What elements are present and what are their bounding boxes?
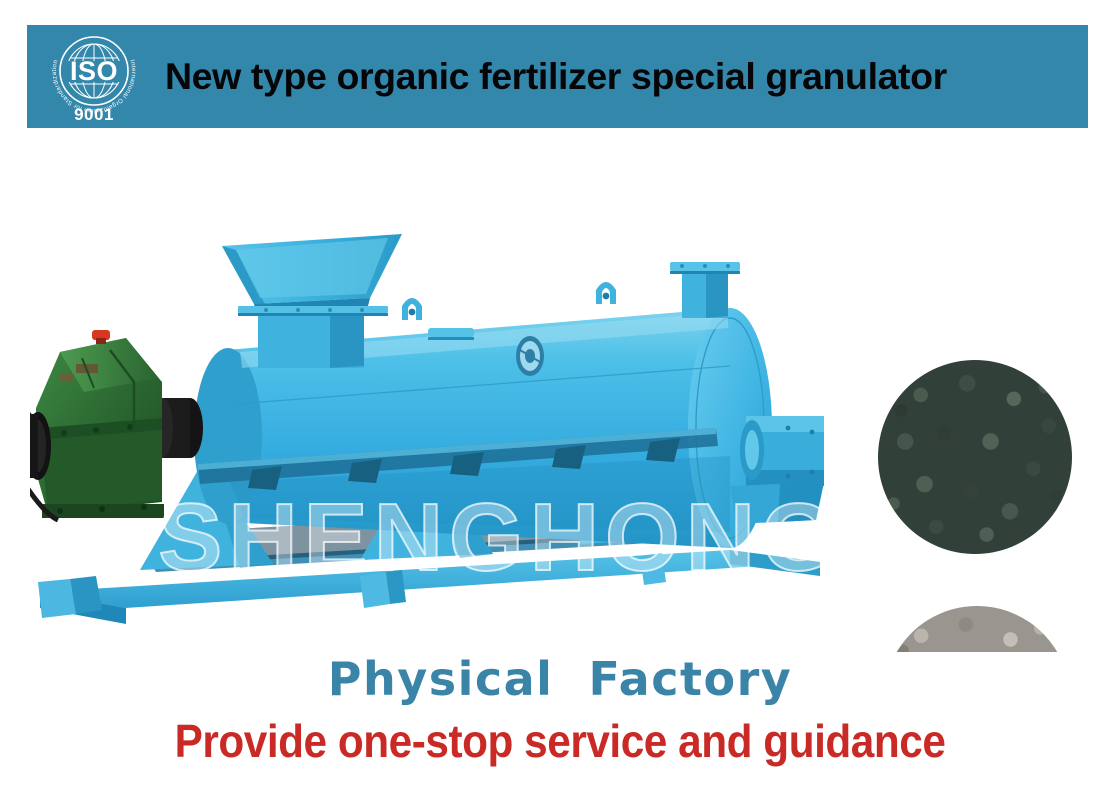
bearing-housing (730, 416, 824, 524)
tagline-secondary: Provide one-stop service and guidance (45, 718, 1075, 764)
lifting-eye (402, 282, 616, 320)
iso-globe-icon: International Organization for Standardi… (41, 25, 147, 128)
tagline-primary: Physical Factory (0, 656, 1120, 702)
granulator-machine-illustration (30, 232, 910, 652)
product-banner: International Organization for Standardi… (0, 0, 1120, 799)
header-bar: International Organization for Standardi… (27, 25, 1088, 128)
svg-text:ISO: ISO (70, 56, 118, 86)
svg-text:9001: 9001 (74, 105, 114, 124)
access-hatch (428, 328, 474, 340)
gear-reducer (36, 330, 164, 518)
iso-certification-badge: International Organization for Standardi… (41, 25, 147, 128)
product-photo: SHENGHONG 晟弘重工 (0, 132, 1120, 652)
grey-granules-sample (884, 606, 1070, 652)
dark-granules-sample (878, 360, 1072, 554)
page-title: New type organic fertilizer special gran… (165, 58, 947, 96)
handwheel-valve-icon (516, 336, 544, 376)
